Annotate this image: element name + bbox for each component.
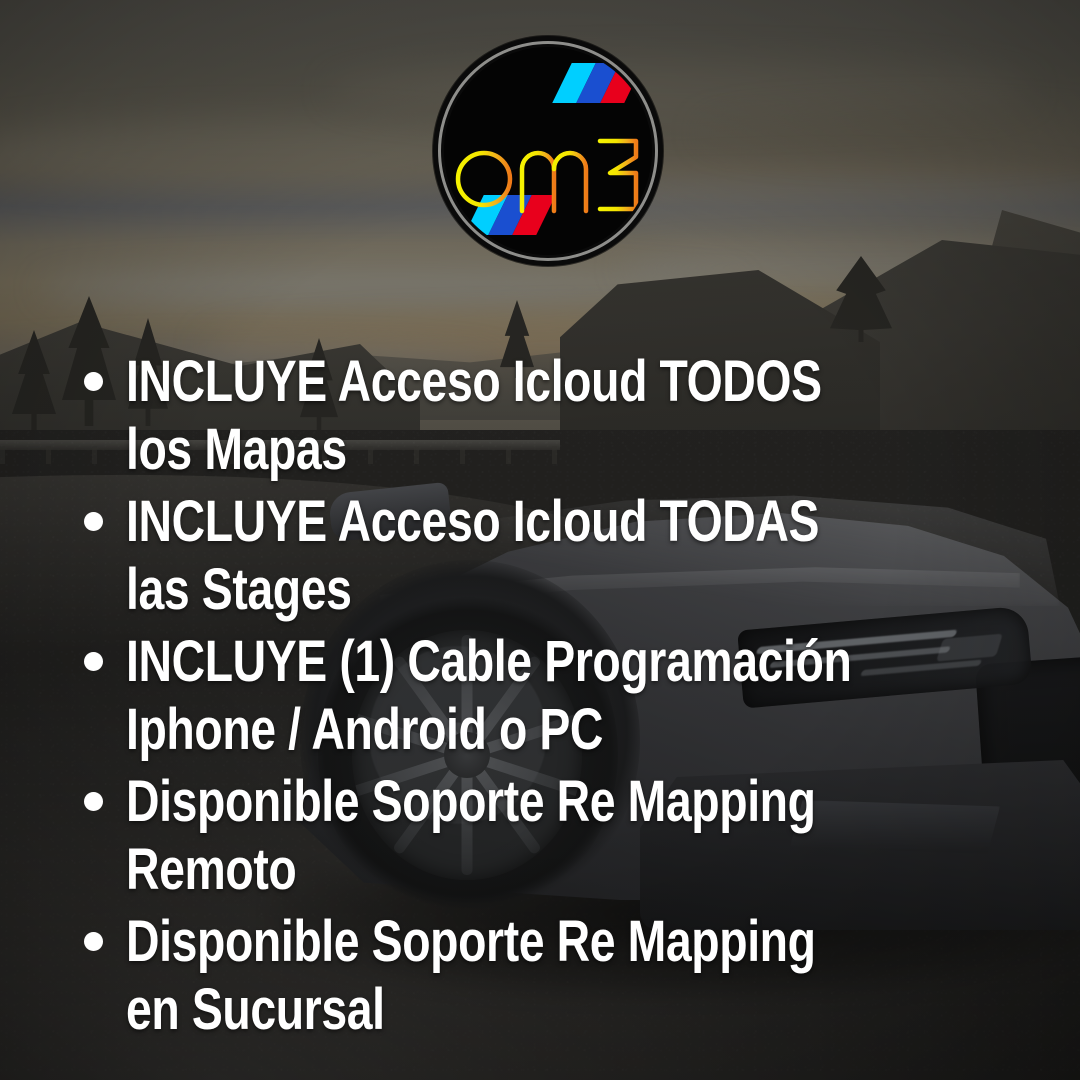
logo-wordmark: [444, 125, 652, 221]
list-item-label: INCLUYE Acceso Icloud TODAS las Stages: [126, 488, 872, 624]
bullet-dot-icon: [84, 932, 103, 951]
list-item: Disponible Soporte Re Mapping Remoto: [78, 768, 1058, 904]
list-item-label: INCLUYE Acceso Icloud TODOS los Mapas: [126, 348, 872, 484]
list-item-label: Disponible Soporte Re Mapping en Sucursa…: [126, 908, 872, 1044]
promo-graphic: INCLUYE Acceso Icloud TODOS los Mapas IN…: [0, 0, 1080, 1080]
m-stripe-top-icon: [552, 63, 644, 103]
list-item: INCLUYE Acceso Icloud TODAS las Stages: [78, 488, 1058, 624]
list-item: Disponible Soporte Re Mapping en Sucursa…: [78, 908, 1058, 1044]
bullet-dot-icon: [84, 512, 103, 531]
bm3-logo: [433, 36, 663, 266]
list-item-label: Disponible Soporte Re Mapping Remoto: [126, 768, 872, 904]
logo-disc: [444, 47, 652, 255]
list-item-label: INCLUYE (1) Cable Programación Iphone / …: [126, 628, 872, 764]
bullet-dot-icon: [84, 652, 103, 671]
bullet-dot-icon: [84, 792, 103, 811]
feature-list: INCLUYE Acceso Icloud TODOS los Mapas IN…: [78, 348, 1058, 1048]
list-item: INCLUYE (1) Cable Programación Iphone / …: [78, 628, 1058, 764]
bullet-dot-icon: [84, 372, 103, 391]
list-item: INCLUYE Acceso Icloud TODOS los Mapas: [78, 348, 1058, 484]
